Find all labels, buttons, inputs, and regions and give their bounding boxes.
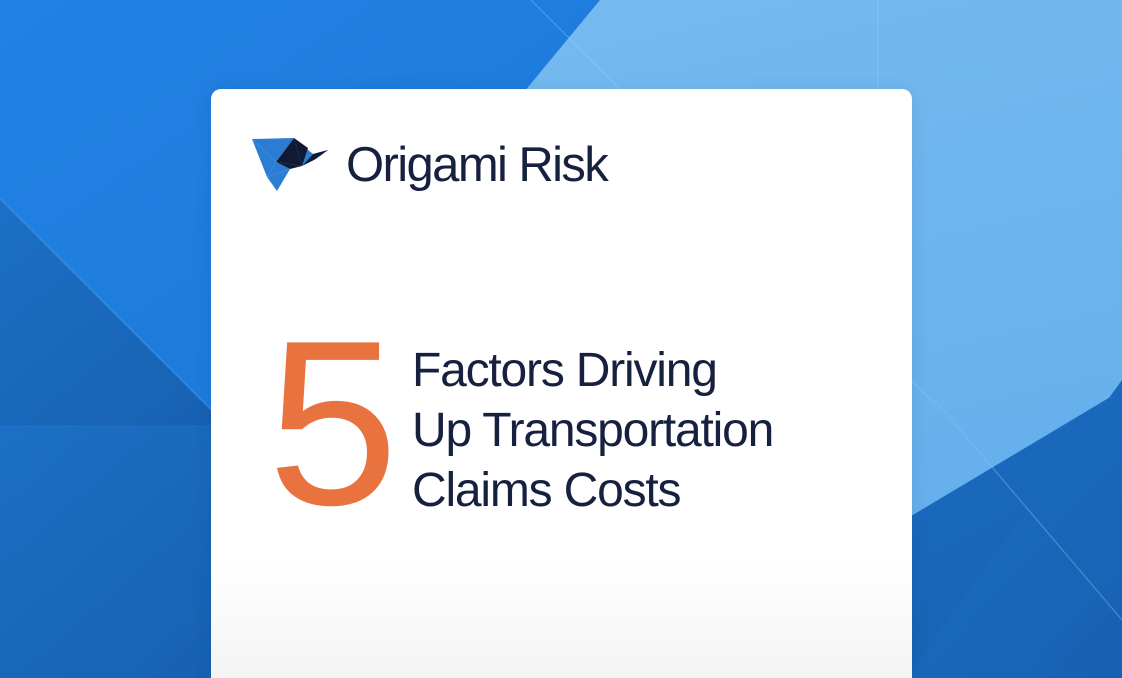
content-card: Origami Risk 5 Factors Driving Up Transp… bbox=[211, 89, 912, 678]
logo-wordmark: Origami Risk bbox=[346, 141, 607, 190]
headline-text: Factors Driving Up Transportation Claims… bbox=[412, 327, 773, 521]
origami-bird-icon bbox=[250, 134, 330, 194]
headline-number: 5 bbox=[250, 331, 412, 514]
presentation-slide: Origami Risk 5 Factors Driving Up Transp… bbox=[0, 0, 1122, 678]
headline-line-1: Factors Driving bbox=[412, 341, 773, 401]
headline-line-3: Claims Costs bbox=[412, 461, 773, 521]
headline-block: 5 Factors Driving Up Transportation Clai… bbox=[250, 327, 773, 521]
brand-logo: Origami Risk bbox=[250, 134, 607, 194]
card-bottom-fade bbox=[211, 558, 912, 678]
headline-line-2: Up Transportation bbox=[412, 401, 773, 461]
bg-deep-block-left bbox=[0, 425, 232, 678]
